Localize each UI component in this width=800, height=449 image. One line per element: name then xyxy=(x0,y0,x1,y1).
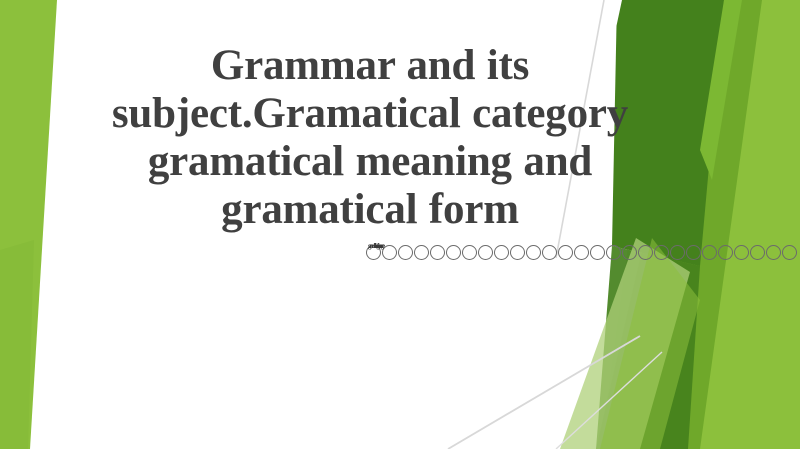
circle-outline-icon xyxy=(574,245,589,260)
circle-outline-icon xyxy=(526,245,541,260)
right-green-sliver xyxy=(700,0,742,180)
right-dark-green-wedge-lower xyxy=(596,246,700,449)
hairline-diagonal-lower xyxy=(448,336,640,449)
circle-outline-icon xyxy=(622,245,637,260)
circle-outline-icon xyxy=(654,245,669,260)
circle-outline-icon xyxy=(542,245,557,260)
slide-canvas: Grammar and its subject.Gramatical categ… xyxy=(0,0,800,449)
circle-outline-icon xyxy=(750,245,765,260)
hairline-diagonal-lower-2 xyxy=(556,352,662,449)
circle-outline-icon xyxy=(734,245,749,260)
circle-outline-icon xyxy=(702,245,717,260)
slide-title: Grammar and its subject.Gramatical categ… xyxy=(60,42,680,235)
subtitle-microtext: grammar is the science of language xyxy=(368,242,490,251)
left-green-wedge xyxy=(0,0,57,449)
circle-outline-icon xyxy=(590,245,605,260)
lower-pale-wedge-2 xyxy=(600,238,700,449)
circle-outline-icon xyxy=(494,245,509,260)
title-block: Grammar and its subject.Gramatical categ… xyxy=(60,42,680,235)
lower-pale-wedge xyxy=(560,238,690,449)
left-green-wedge-tint xyxy=(0,240,34,449)
subtitle-bullet-row: grammar is the science of language xyxy=(366,243,800,265)
circle-outline-icon xyxy=(782,245,797,260)
circle-outline-icon xyxy=(606,245,621,260)
circle-outline-icon xyxy=(686,245,701,260)
right-bright-green-band xyxy=(664,0,800,449)
circle-outline-icon xyxy=(638,245,653,260)
circle-outline-icon xyxy=(766,245,781,260)
circle-outline-icon xyxy=(558,245,573,260)
circle-outline-icon xyxy=(718,245,733,260)
circle-outline-icon xyxy=(670,245,685,260)
circle-outline-icon xyxy=(510,245,525,260)
